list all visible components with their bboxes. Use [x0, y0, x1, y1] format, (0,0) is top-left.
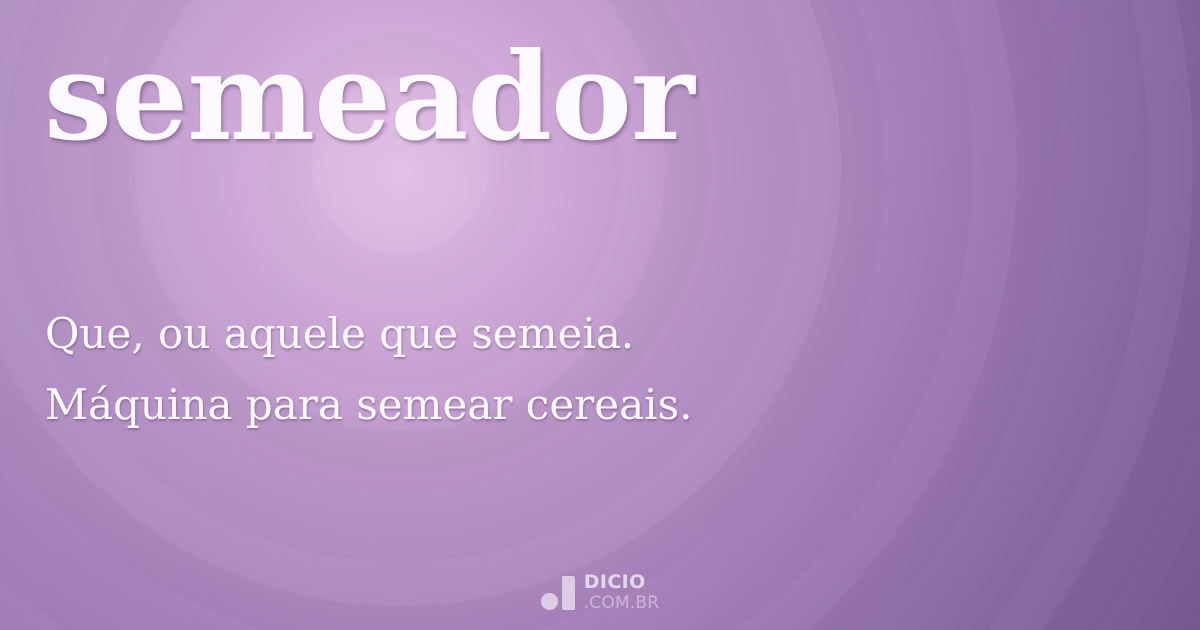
dicio-circle-bar-icon [541, 576, 575, 610]
logo-bar-shape [562, 576, 575, 610]
word-definition-card: semeador Que, ou aquele que semeia. Máqu… [0, 0, 1200, 630]
logo-brand-name: DICIO [584, 573, 660, 592]
card-content: semeador Que, ou aquele que semeia. Máqu… [0, 0, 1200, 630]
word-title: semeador [44, 36, 694, 157]
logo-wordmark: DICIO .COM.BR [584, 573, 660, 612]
logo-circle-shape [541, 593, 558, 610]
logo-domain-suffix: .COM.BR [584, 595, 660, 612]
definition-item: Máquina para semear cereais. [45, 378, 1125, 433]
definition-item: Que, ou aquele que semeia. [45, 307, 1125, 362]
definition-list: Que, ou aquele que semeia. Máquina para … [45, 307, 1125, 448]
logo-inner: DICIO .COM.BR [541, 573, 660, 612]
site-logo[interactable]: DICIO .COM.BR [0, 573, 1200, 612]
